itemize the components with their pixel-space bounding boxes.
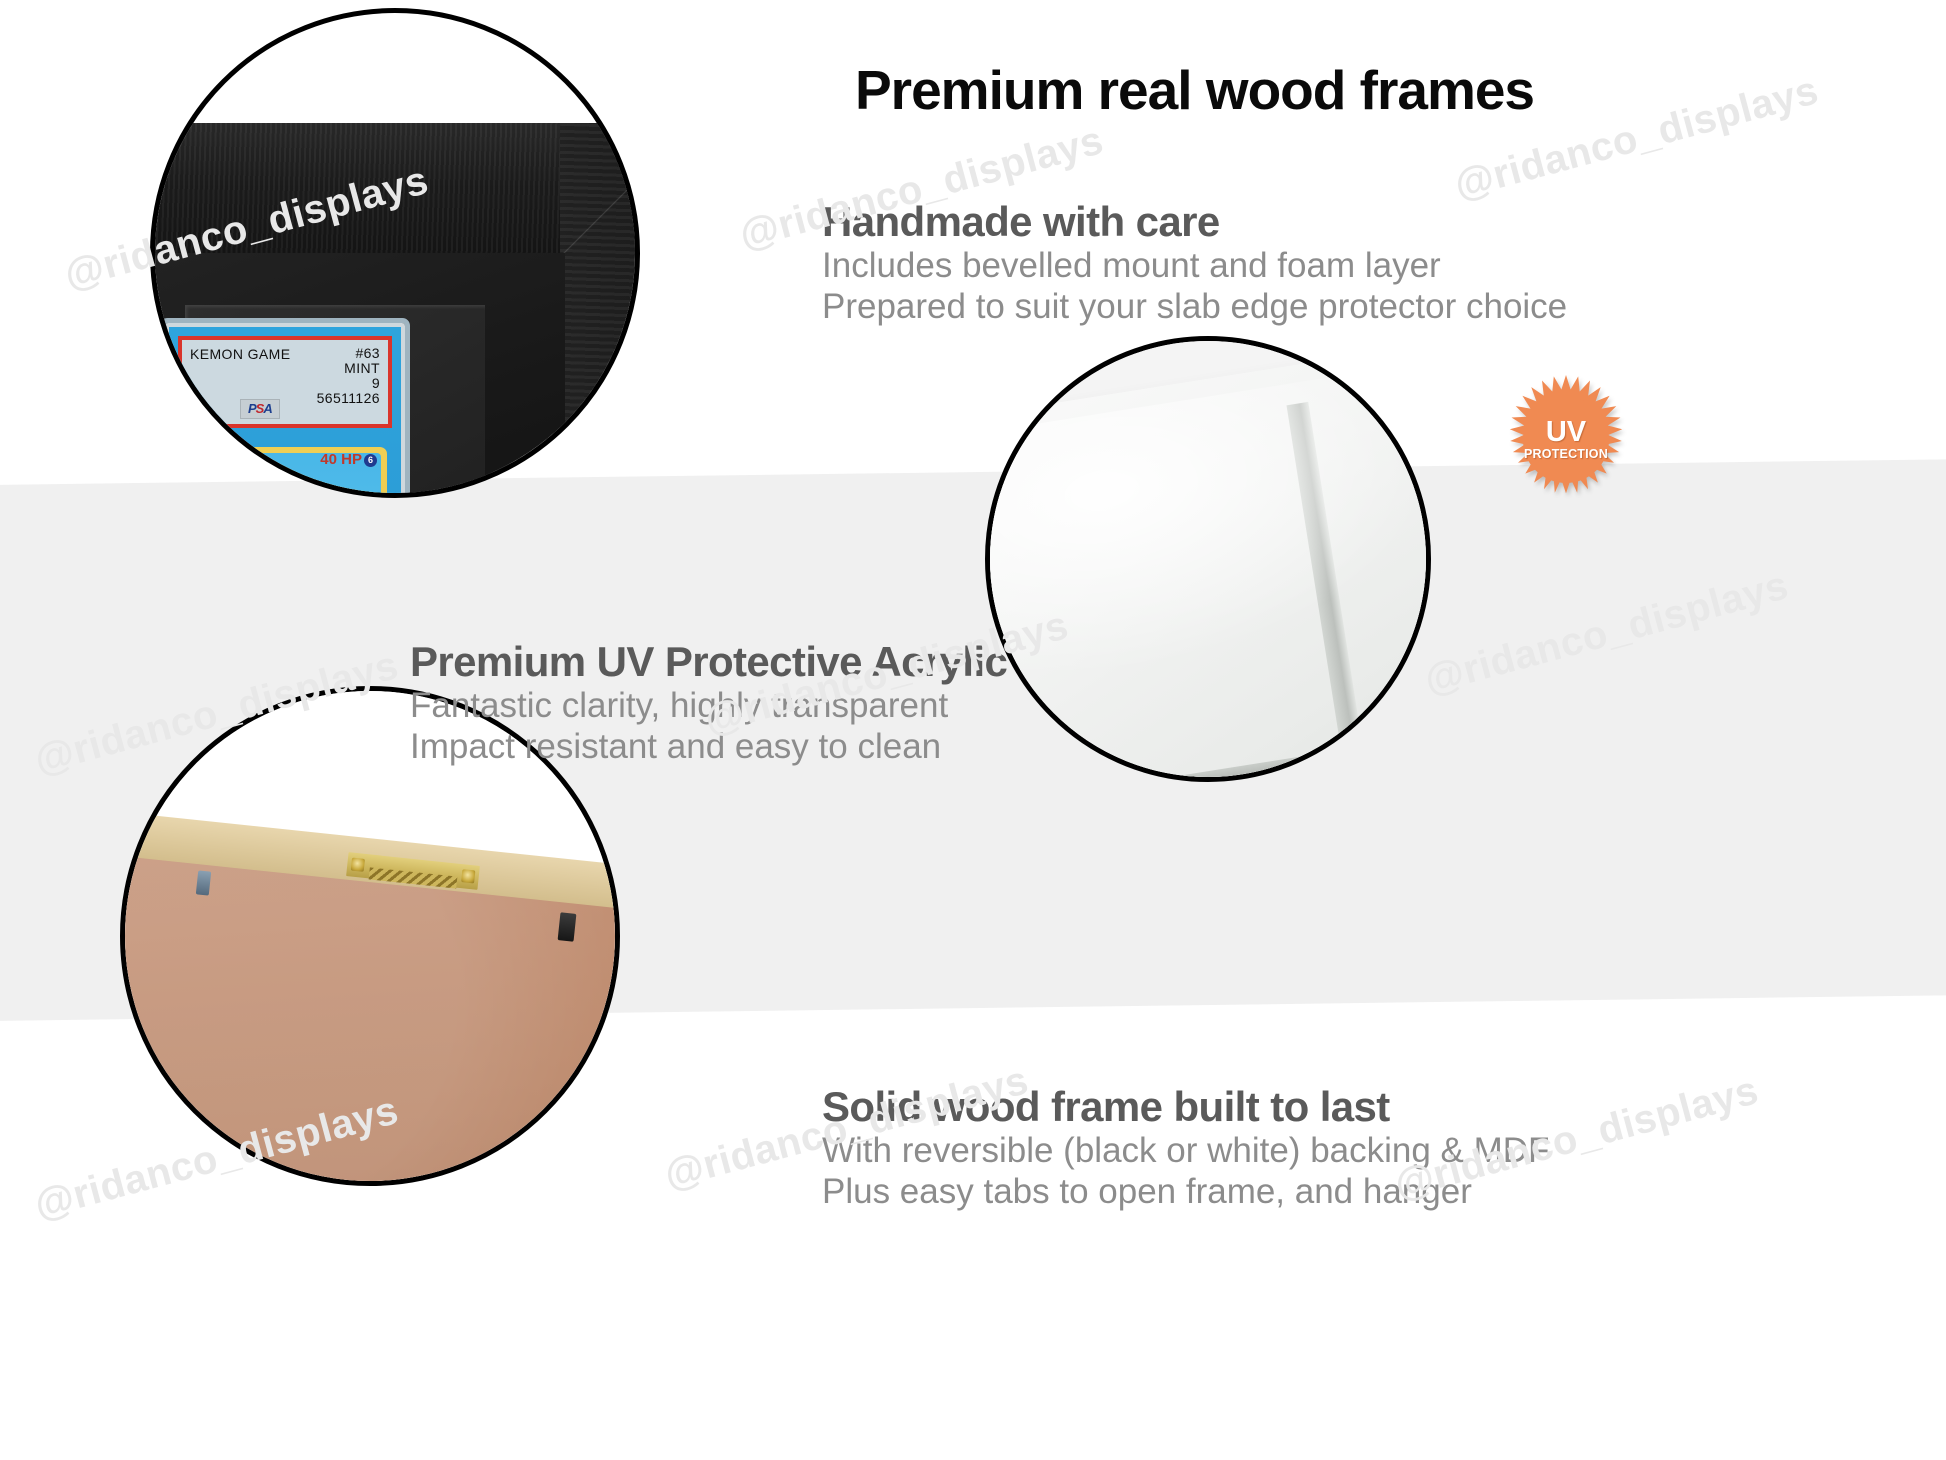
frame-tab-right bbox=[558, 912, 577, 942]
feature-handmade: Handmade with care Includes bevelled mou… bbox=[822, 200, 1567, 327]
slab-card-front: KEMON GAME #63 MINT 9 56511126 PSA bbox=[169, 327, 401, 498]
feature-handmade-line-2: Prepared to suit your slab edge protecto… bbox=[822, 286, 1567, 327]
infographic-canvas: @ridanco_displays @ridanco_displays @rid… bbox=[0, 0, 1946, 1460]
psa-logo: PSA bbox=[240, 399, 280, 419]
energy-icon: 6 bbox=[364, 454, 377, 467]
frame-miter-joint bbox=[551, 117, 640, 267]
photo-acrylic-sheet bbox=[985, 336, 1431, 782]
graded-card-slab: KEMON GAME #63 MINT 9 56511126 PSA bbox=[165, 323, 405, 498]
feature-solid-heading: Solid wood frame built to last bbox=[822, 1085, 1549, 1130]
slab-grade-word: MINT bbox=[344, 360, 380, 376]
slab-grading-label: KEMON GAME #63 MINT 9 56511126 PSA bbox=[178, 336, 392, 428]
slab-game-name: KEMON GAME bbox=[190, 346, 290, 406]
card-hp-label: 40 HP6 bbox=[320, 451, 377, 468]
pokemon-card: 40 HP6 bbox=[183, 447, 387, 498]
feature-handmade-heading: Handmade with care bbox=[822, 200, 1567, 245]
mdf-backing-board bbox=[120, 853, 620, 1186]
slab-cert-number: 56511126 bbox=[317, 390, 380, 406]
feature-solid-line-1: With reversible (black or white) backing… bbox=[822, 1130, 1549, 1171]
feature-acrylic-line-2: Impact resistant and easy to clean bbox=[410, 726, 1007, 767]
feature-acrylic: Premium UV Protective Acrylic Fantastic … bbox=[410, 640, 1007, 767]
feature-handmade-line-1: Includes bevelled mount and foam layer bbox=[822, 245, 1567, 286]
photo-frame-corner: KEMON GAME #63 MINT 9 56511126 PSA bbox=[150, 8, 640, 498]
frame-tab-left bbox=[196, 870, 211, 895]
slab-card-number: #63 bbox=[355, 345, 380, 361]
feature-acrylic-heading: Premium UV Protective Acrylic bbox=[410, 640, 1007, 685]
feature-solid-line-2: Plus easy tabs to open frame, and hanger bbox=[822, 1171, 1549, 1212]
slab-grade-value: 9 bbox=[372, 375, 380, 391]
feature-solid-wood: Solid wood frame built to last With reve… bbox=[822, 1085, 1549, 1212]
feature-acrylic-line-1: Fantastic clarity, highly transparent bbox=[410, 685, 1007, 726]
uv-protection-badge: UV PROTECTION bbox=[1500, 374, 1632, 506]
page-title: Premium real wood frames bbox=[855, 58, 1534, 122]
